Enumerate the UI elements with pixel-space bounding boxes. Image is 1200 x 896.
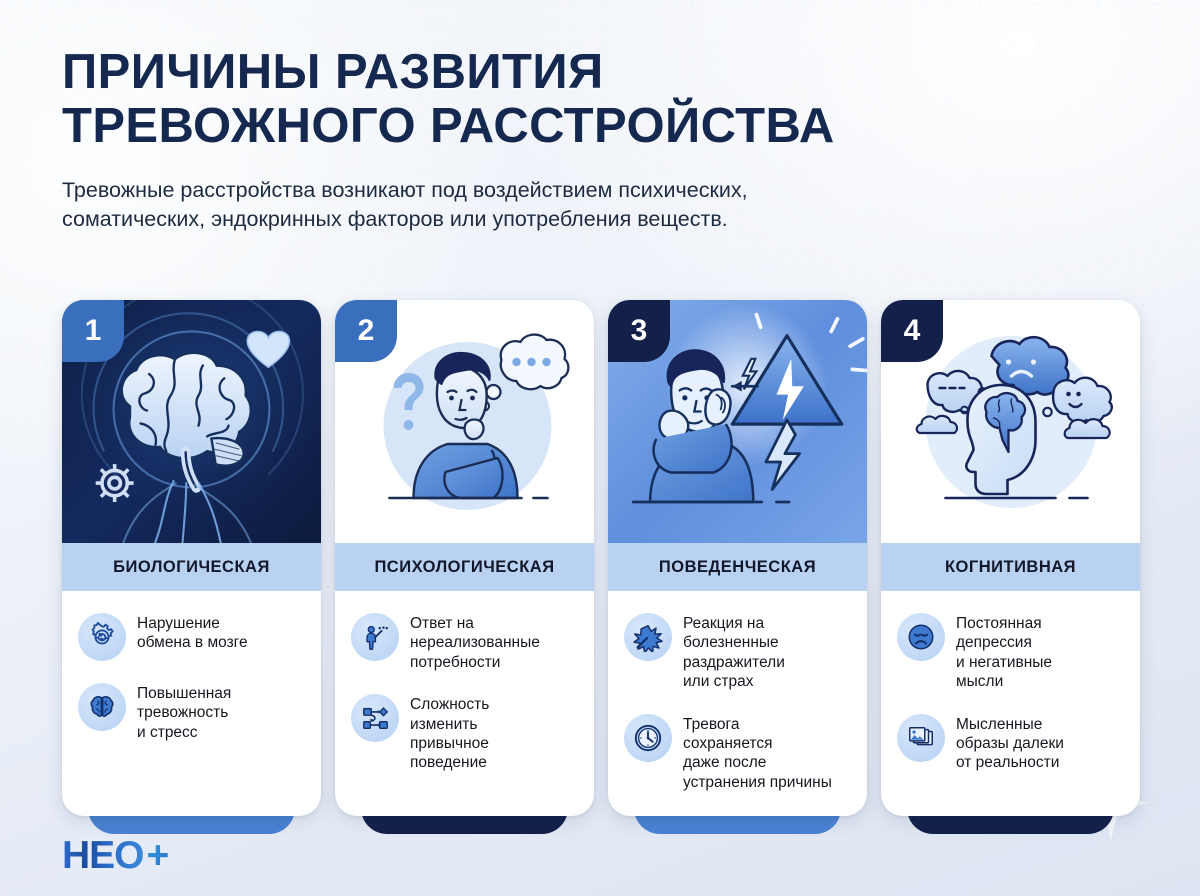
clock-icon [624, 714, 672, 762]
card-4-bullets: Постоянная депрессия и негативные мысли [881, 591, 1140, 816]
cards-row: 1 БИОЛОГИЧЕСКАЯ [62, 300, 1140, 832]
page-title-line1: ПРИЧИНЫ РАЗВИТИЯ [62, 45, 604, 99]
card-3-bullet-2: Тревога сохраняется даже после устранени… [624, 714, 851, 793]
card-1[interactable]: 1 БИОЛОГИЧЕСКАЯ [62, 300, 321, 832]
line: болезненные [683, 634, 779, 651]
header: ПРИЧИНЫ РАЗВИТИЯ ТРЕВОЖНОГО РАССТРОЙСТВА… [62, 46, 1122, 235]
line: Повышенная [137, 685, 231, 702]
card-3-bullet-1-text: Реакция на болезненные раздражители или … [683, 613, 785, 692]
person-raising-hand-icon [351, 613, 399, 661]
line: Тревога [683, 716, 739, 733]
line: раздражители [683, 654, 785, 671]
card-3[interactable]: 3 ПОВЕДЕНЧЕСКАЯ Реакция на болезн [608, 300, 867, 832]
brand-logo-word: НЕО [62, 834, 144, 878]
line: Мысленные [956, 716, 1042, 733]
card-2-bullets: Ответ на нереализованные потребности [335, 591, 594, 816]
card-1-bullet-2-text: Повышенная тревожность и стресс [137, 683, 231, 742]
card-2-bullet-1: Ответ на нереализованные потребности [351, 613, 578, 672]
card-4-label: КОГНИТИВНАЯ [945, 558, 1076, 577]
line: мысли [956, 673, 1003, 690]
card-1-illustration: 1 [62, 300, 321, 543]
card-3-label-band: ПОВЕДЕНЧЕСКАЯ [608, 543, 867, 591]
card-4-bullet-1: Постоянная депрессия и негативные мысли [897, 613, 1124, 692]
card-3-illustration: 3 [608, 300, 867, 543]
line: Реакция на [683, 615, 764, 632]
line: изменить [410, 716, 477, 733]
card-4-bullet-2-text: Мысленные образы далеки от реальности [956, 714, 1064, 773]
card-1-bullet-1: Нарушение обмена в мозге [78, 613, 305, 661]
line: даже после [683, 754, 766, 771]
card-2-bullet-2: Сложность изменить привычное поведение [351, 694, 578, 773]
line: и негативные [956, 654, 1052, 671]
line: Ответ на [410, 615, 474, 632]
line: образы далеки [956, 735, 1064, 752]
small-cloud-right-icon [1065, 419, 1110, 438]
page-title-line2: ТРЕВОЖНОГО РАССТРОЙСТВА [62, 100, 1122, 154]
line: от реальности [956, 754, 1059, 771]
page-subtitle-line1: Тревожные расстройства возникают под воз… [62, 176, 1062, 206]
card-2-bullet-2-text: Сложность изменить привычное поведение [410, 694, 489, 773]
card-1-label: БИОЛОГИЧЕСКАЯ [113, 558, 270, 577]
card-4-number-badge: 4 [881, 300, 943, 362]
card-1-bullet-2: Повышенная тревожность и стресс [78, 683, 305, 742]
card-1-number-badge: 1 [62, 300, 124, 362]
line: или страх [683, 673, 754, 690]
line: поведение [410, 754, 487, 771]
brand-logo-plus: + [147, 834, 169, 878]
line: сохраняется [683, 735, 773, 752]
line: депрессия [956, 634, 1032, 651]
card-1-number: 1 [85, 314, 102, 348]
card-2-number: 2 [358, 314, 375, 348]
card-2-label-band: ПСИХОЛОГИЧЕСКАЯ [335, 543, 594, 591]
card-4[interactable]: 4 КОГНИТИВНАЯ [881, 300, 1140, 832]
line: обмена в мозге [137, 634, 248, 651]
page-title: ПРИЧИНЫ РАЗВИТИЯ ТРЕВОЖНОГО РАССТРОЙСТВА [62, 46, 1122, 154]
card-3-bullet-2-text: Тревога сохраняется даже после устранени… [683, 714, 832, 793]
card-2-number-badge: 2 [335, 300, 397, 362]
card-3-bullet-1: Реакция на болезненные раздражители или … [624, 613, 851, 692]
card-4-label-band: КОГНИТИВНАЯ [881, 543, 1140, 591]
line: привычное [410, 735, 489, 752]
line: и стресс [137, 724, 198, 741]
line: потребности [410, 654, 500, 671]
line: Нарушение [137, 615, 220, 632]
line: тревожность [137, 704, 228, 721]
line: нереализованные [410, 634, 540, 651]
brain-icon [78, 683, 126, 731]
card-2-illustration: 2 [335, 300, 594, 543]
photos-icon [897, 714, 945, 762]
flowchart-icon [351, 694, 399, 742]
card-2-bullet-1-text: Ответ на нереализованные потребности [410, 613, 540, 672]
card-3-number-badge: 3 [608, 300, 670, 362]
page-subtitle-line2: соматических, эндокринных факторов или у… [62, 205, 1062, 235]
card-3-bullets: Реакция на болезненные раздражители или … [608, 591, 867, 816]
card-1-bullets: Нарушение обмена в мозге [62, 591, 321, 816]
card-3-label: ПОВЕДЕНЧЕСКАЯ [659, 558, 816, 577]
brand-logo: НЕО + [62, 834, 168, 878]
gear-recycle-icon [78, 613, 126, 661]
sad-face-icon [897, 613, 945, 661]
burst-impact-icon [624, 613, 672, 661]
card-2-label: ПСИХОЛОГИЧЕСКАЯ [374, 558, 554, 577]
line: устранения причины [683, 774, 832, 791]
card-3-number: 3 [631, 314, 648, 348]
card-4-illustration: 4 [881, 300, 1140, 543]
card-1-label-band: БИОЛОГИЧЕСКАЯ [62, 543, 321, 591]
card-4-bullet-2: Мысленные образы далеки от реальности [897, 714, 1124, 773]
card-2[interactable]: 2 ПСИХОЛОГИЧЕСКАЯ [335, 300, 594, 832]
card-4-bullet-1-text: Постоянная депрессия и негативные мысли [956, 613, 1052, 692]
line: Постоянная [956, 615, 1042, 632]
line: Сложность [410, 696, 489, 713]
page-subtitle: Тревожные расстройства возникают под воз… [62, 176, 1062, 235]
card-1-bullet-1-text: Нарушение обмена в мозге [137, 613, 248, 653]
card-4-number: 4 [904, 314, 921, 348]
